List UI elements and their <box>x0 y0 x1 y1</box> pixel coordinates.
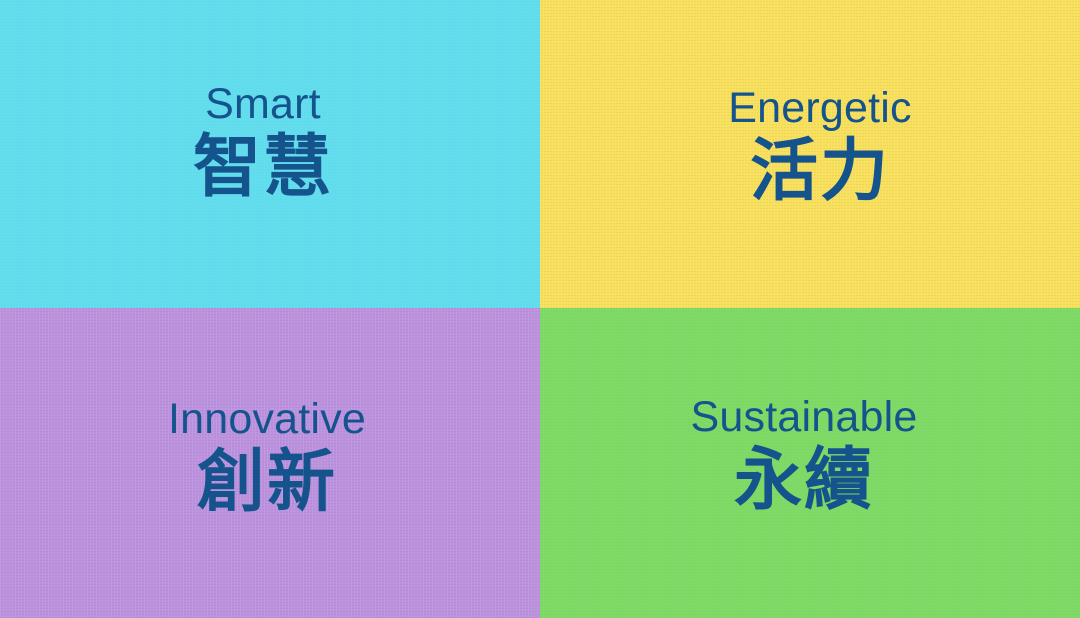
value-card-energetic-english-label: Energetic <box>728 87 911 130</box>
value-card-innovative-text-stack: Innovative 創新 <box>168 398 366 517</box>
brand-values-grid: Smart 智慧 Energetic 活力 Innovative 創新 Sust… <box>0 0 1080 618</box>
value-card-smart-text-stack: Smart 智慧 <box>193 83 333 202</box>
value-card-innovative-english-label: Innovative <box>168 398 366 441</box>
value-card-energetic-text-stack: Energetic 活力 <box>728 87 911 206</box>
value-card-energetic[interactable]: Energetic 活力 <box>540 0 1080 308</box>
value-card-sustainable-english-label: Sustainable <box>691 396 918 439</box>
value-card-energetic-chinese-label: 活力 <box>728 138 911 206</box>
value-card-sustainable-text-stack: Sustainable 永續 <box>691 396 918 515</box>
value-card-innovative[interactable]: Innovative 創新 <box>0 308 540 618</box>
value-card-smart-chinese-label: 智慧 <box>193 134 333 202</box>
value-card-smart[interactable]: Smart 智慧 <box>0 0 540 308</box>
value-card-sustainable-chinese-label: 永續 <box>691 447 918 515</box>
value-card-smart-english-label: Smart <box>193 83 333 126</box>
value-card-innovative-chinese-label: 創新 <box>168 449 366 517</box>
value-card-sustainable[interactable]: Sustainable 永續 <box>540 308 1080 618</box>
